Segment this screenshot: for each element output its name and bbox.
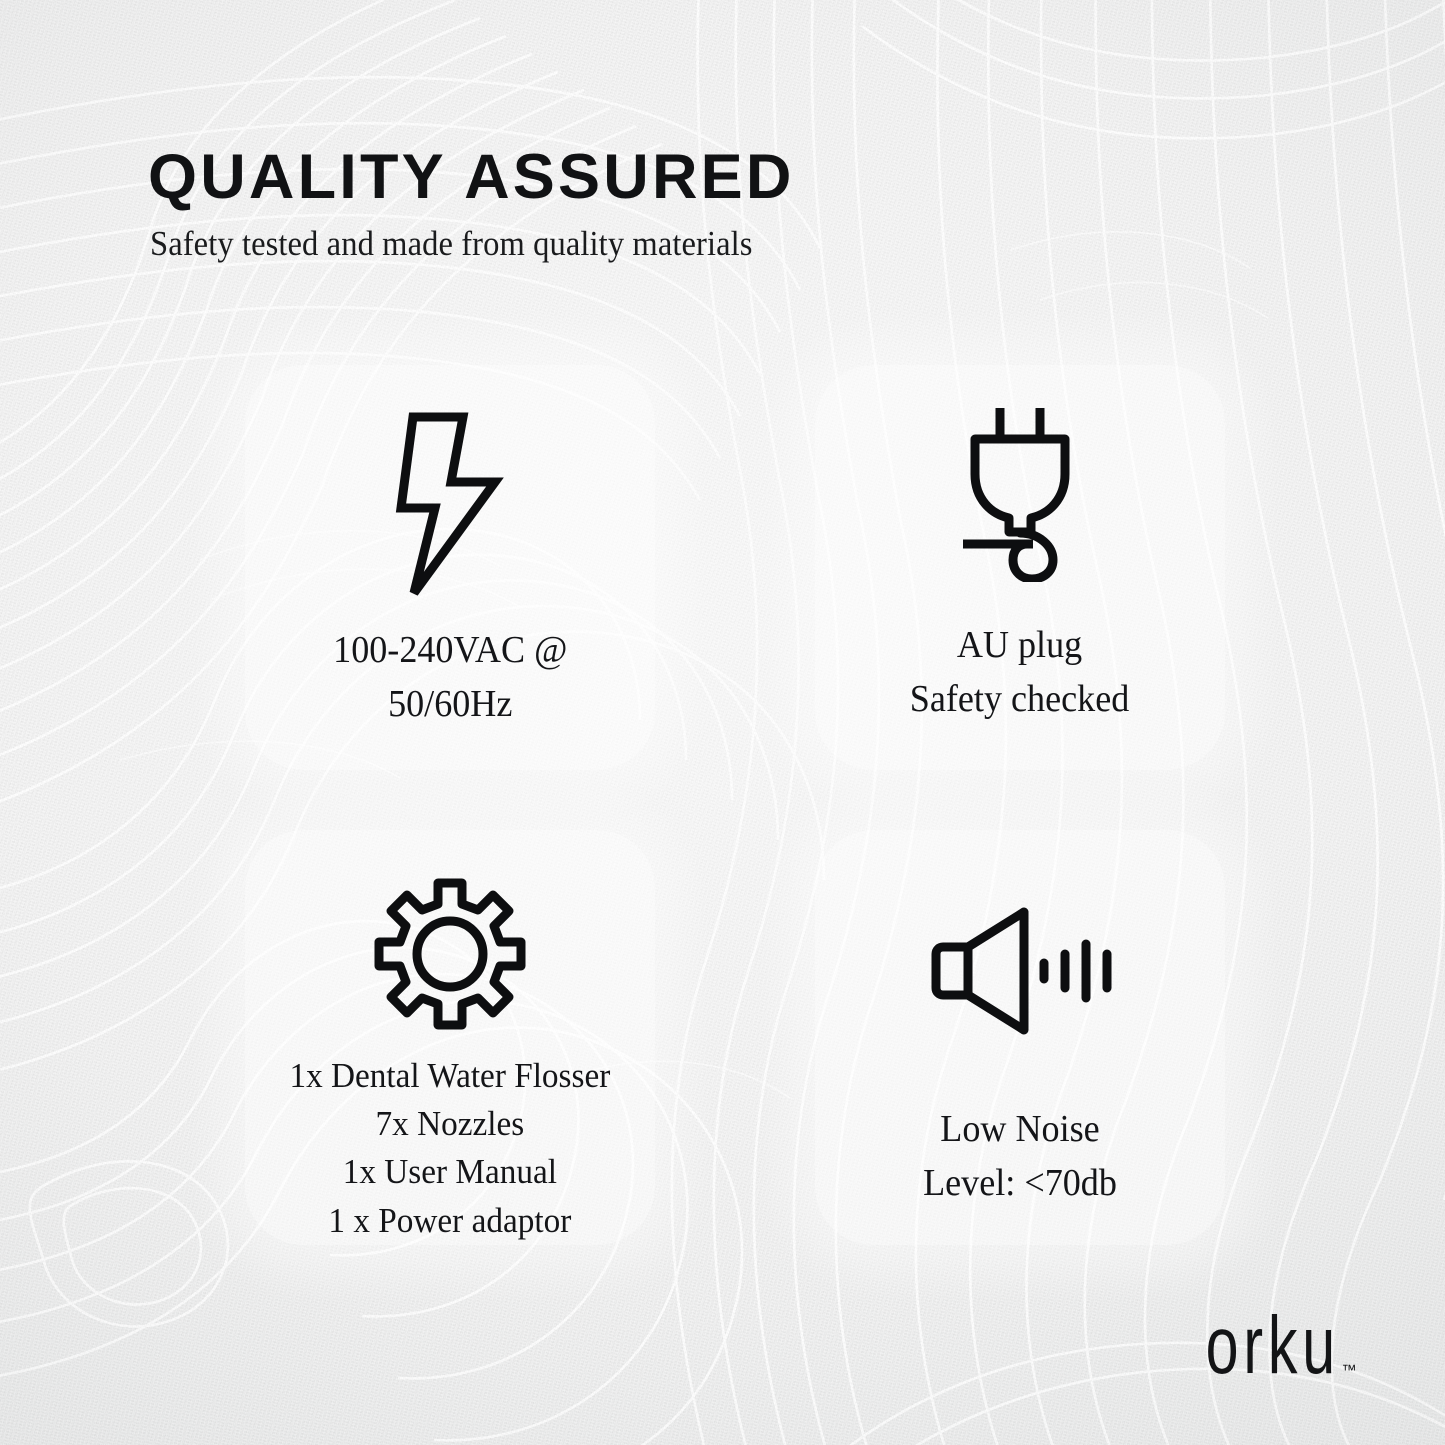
card-text-line: 100-240VAC @ <box>333 624 567 678</box>
feature-card-voltage: 100-240VAC @ 50/60Hz <box>245 365 655 770</box>
power-plug-icon <box>955 387 1085 597</box>
feature-card-plug-text: AU plug Safety checked <box>910 619 1129 727</box>
card-text-line: 1 x Power adaptor <box>290 1197 611 1245</box>
feature-card-grid: 100-240VAC @ 50/60Hz AU plug <box>245 365 1220 1245</box>
card-text-line: Level: <70db <box>923 1157 1117 1211</box>
feature-card-box-contents-text: 1x Dental Water Flosser 7x Nozzles 1x Us… <box>290 1052 611 1245</box>
brand-logo: orku ™ <box>1172 1315 1357 1383</box>
card-text-line: AU plug <box>910 619 1129 673</box>
card-text-line: Low Noise <box>923 1103 1117 1157</box>
header: QUALITY ASSURED Safety tested and made f… <box>148 146 1148 264</box>
quality-assured-infographic: QUALITY ASSURED Safety tested and made f… <box>0 0 1445 1445</box>
card-text-line: 1x Dental Water Flosser <box>290 1052 611 1100</box>
brand-name: orku <box>1205 1308 1339 1383</box>
trademark-symbol: ™ <box>1342 1362 1358 1379</box>
feature-card-plug: AU plug Safety checked <box>815 365 1225 770</box>
card-text-line: 7x Nozzles <box>290 1100 611 1148</box>
speaker-volume-icon <box>928 878 1112 1063</box>
feature-card-box-contents: 1x Dental Water Flosser 7x Nozzles 1x Us… <box>245 830 655 1245</box>
page-title: QUALITY ASSURED <box>148 146 1148 209</box>
page-subtitle: Safety tested and made from quality mate… <box>150 225 1078 264</box>
feature-card-noise: Low Noise Level: <70db <box>815 830 1225 1245</box>
gear-icon <box>374 872 526 1036</box>
feature-card-noise-text: Low Noise Level: <70db <box>923 1103 1117 1211</box>
card-text-line: 50/60Hz <box>333 678 567 732</box>
feature-card-voltage-text: 100-240VAC @ 50/60Hz <box>333 624 567 732</box>
card-text-line: 1x User Manual <box>290 1148 611 1196</box>
card-text-line: Safety checked <box>910 673 1129 727</box>
lightning-bolt-icon <box>391 400 509 610</box>
